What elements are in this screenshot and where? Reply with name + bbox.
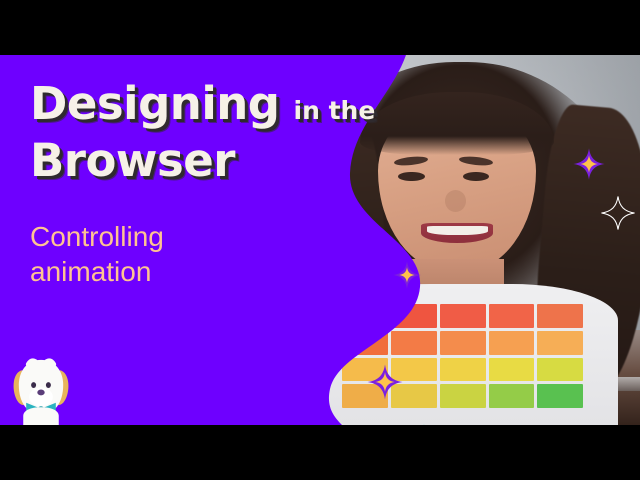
title-line-1: Designing in the xyxy=(30,81,380,128)
letterbox-bar-top xyxy=(0,0,640,55)
title-line-2: Browser xyxy=(30,138,380,185)
sparkle-white-outline-right xyxy=(600,195,636,231)
sparkle-purple-gold-top-right xyxy=(572,147,606,181)
title-block: Designing in the Browser Controlling ani… xyxy=(30,81,380,290)
dog-mascot-logo xyxy=(4,351,78,425)
video-frame: Designing in the Browser Controlling ani… xyxy=(0,0,640,480)
title-small: in the xyxy=(294,98,376,124)
sparkle-purple-gold-mic xyxy=(392,260,422,290)
sparkle-purple-gold-lower xyxy=(366,363,404,401)
video-content: Designing in the Browser Controlling ani… xyxy=(0,55,640,425)
title-main: Designing xyxy=(30,81,280,128)
letterbox-bar-bottom xyxy=(0,425,640,480)
subtitle: Controlling animation xyxy=(30,219,380,291)
